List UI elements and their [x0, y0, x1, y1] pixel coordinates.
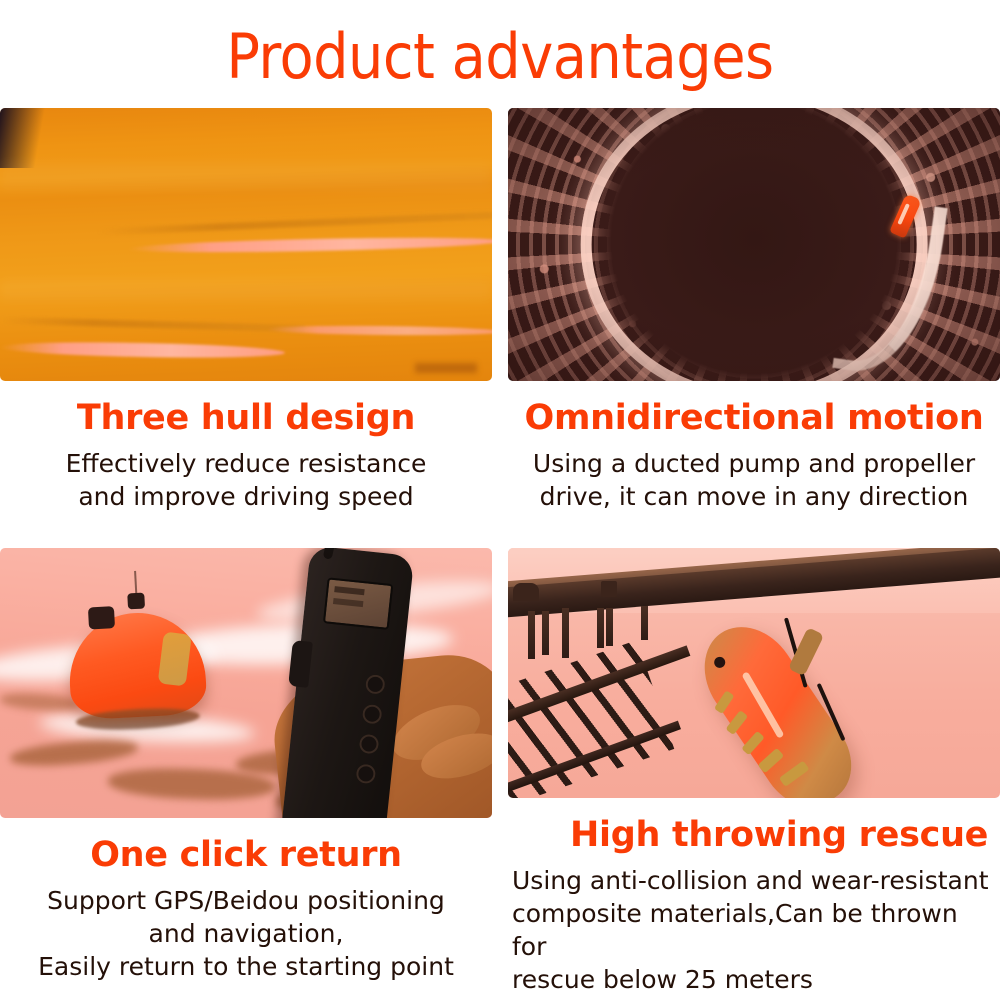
feature-card-three-hull-design: Three hull design Effectively reduce res…: [0, 108, 492, 548]
boat-rib: [726, 710, 749, 735]
hull-shadow: [415, 363, 477, 373]
pier-pile: [542, 611, 549, 655]
water-shadow: [9, 737, 138, 770]
product-advantages-page: Product advantages: [0, 0, 1000, 1000]
remote-button: [364, 674, 385, 695]
hull-edge-line: [0, 317, 305, 333]
boat-rib: [758, 747, 785, 773]
feature-card-one-click-return: One click return Support GPS/Beidou posi…: [0, 548, 492, 996]
feature-description-line: composite materials,Can be thrown for: [512, 897, 1000, 963]
feature-description-line: Effectively reduce resistance: [0, 447, 492, 480]
hull-band: [0, 280, 492, 300]
buoy-hatch: [88, 606, 115, 629]
feature-title: Omnidirectional motion: [508, 397, 1000, 439]
buoy-hatch: [127, 592, 145, 609]
bridge-post: [513, 583, 539, 601]
pier-pile: [641, 606, 648, 640]
boat-port-hole: [712, 654, 727, 669]
pier-pile: [528, 611, 535, 659]
feature-image-three-hull-design: [0, 108, 492, 381]
hull-edge-line: [98, 211, 492, 235]
pier-pile: [562, 608, 569, 658]
boat-strap: [817, 682, 846, 740]
hull-highlight-streak: [266, 325, 492, 336]
feature-title: One click return: [0, 834, 492, 876]
boat-rib: [779, 760, 810, 787]
feature-description: Using a ducted pump and propeller drive,…: [508, 447, 1000, 513]
feature-description: Support GPS/Beidou positioning and navig…: [0, 884, 492, 983]
feature-grid: Three hull design Effectively reduce res…: [0, 108, 1000, 996]
feature-description-line: and improve driving speed: [0, 480, 492, 513]
feature-row-top: Three hull design Effectively reduce res…: [0, 108, 1000, 548]
feature-row-bottom: One click return Support GPS/Beidou posi…: [0, 548, 1000, 996]
bridge-post: [601, 581, 617, 597]
feature-caption: Three hull design Effectively reduce res…: [0, 381, 492, 513]
orange-hull-closeup-image: [0, 108, 492, 381]
boat-rib: [742, 730, 765, 755]
pier-pile: [597, 608, 604, 648]
page-title: Product advantages: [0, 22, 1000, 92]
feature-caption: One click return Support GPS/Beidou posi…: [0, 818, 492, 983]
feature-image-omnidirectional-motion: [508, 108, 1000, 381]
remote-trigger: [288, 640, 313, 688]
feature-caption: Omnidirectional motion Using a ducted pu…: [508, 381, 1000, 513]
hull-highlight-streak: [128, 235, 492, 255]
feature-description-line: Using a ducted pump and propeller: [508, 447, 1000, 480]
feature-caption: High throwing rescue Using anti-collisio…: [508, 798, 1000, 996]
feature-description: Effectively reduce resistance and improv…: [0, 447, 492, 513]
remote-button: [361, 704, 382, 725]
feature-description-line: Using anti-collision and wear-resistant: [512, 864, 1000, 897]
remote-button: [355, 764, 376, 785]
thrown-rescue-boat: [686, 609, 869, 798]
feature-card-high-throwing-rescue: High throwing rescue Using anti-collisio…: [508, 548, 1000, 996]
feature-image-high-throwing-rescue: [508, 548, 1000, 798]
feature-description-line: rescue below 25 meters: [512, 963, 1000, 996]
remote-screen: [322, 578, 392, 631]
vignette-overlay: [508, 108, 1000, 381]
water-shadow: [0, 691, 79, 712]
feature-title: High throwing rescue: [512, 814, 1000, 856]
rescue-buoy-with-remote-control-image: [0, 548, 492, 818]
feature-description-line: Support GPS/Beidou positioning: [0, 884, 492, 917]
remote-antenna: [322, 548, 351, 560]
feature-image-one-click-return: [0, 548, 492, 818]
boat-rib: [714, 690, 735, 714]
feature-description-line: Easily return to the starting point: [0, 950, 492, 983]
hull-highlight-streak: [0, 340, 285, 359]
buoy-stripe: [158, 631, 192, 686]
rescue-buoy: [66, 609, 207, 720]
remote-button: [358, 734, 379, 755]
feature-description: Using anti-collision and wear-resistant …: [512, 864, 1000, 996]
boat-stripe: [742, 671, 785, 739]
aerial-boat-circular-wake-image: [508, 108, 1000, 381]
boat-thrown-from-bridge-image: [508, 548, 1000, 798]
hull-band: [0, 163, 492, 189]
feature-description-line: drive, it can move in any direction: [508, 480, 1000, 513]
feature-description-line: and navigation,: [0, 917, 492, 950]
feature-card-omnidirectional-motion: Omnidirectional motion Using a ducted pu…: [508, 108, 1000, 548]
pier-pile: [606, 608, 613, 646]
feature-title: Three hull design: [0, 397, 492, 439]
